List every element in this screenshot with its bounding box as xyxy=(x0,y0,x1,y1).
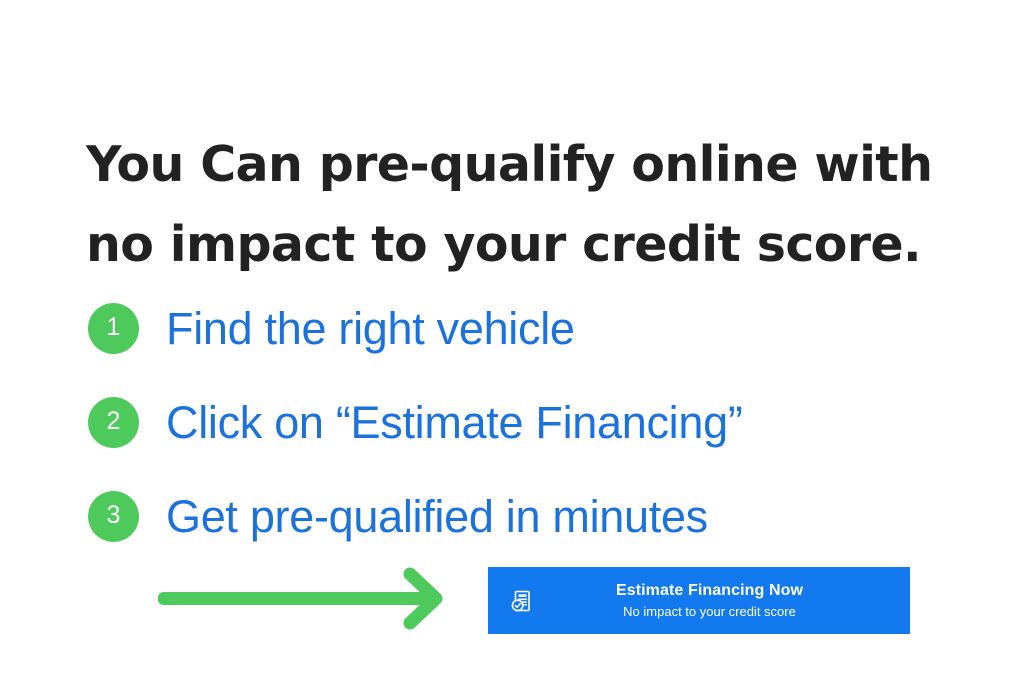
headline-line-2: no impact to your credit score. xyxy=(86,205,966,285)
step-number-badge-2: 2 xyxy=(88,397,139,448)
estimate-financing-button[interactable]: Estimate Financing Now No impact to your… xyxy=(488,567,910,634)
cta-text-block: Estimate Financing Now No impact to your… xyxy=(527,581,910,621)
arrow-right-icon xyxy=(158,566,450,630)
steps-list: 1 Find the right vehicle 2 Click on “Est… xyxy=(88,281,968,563)
step-number-badge-1: 1 xyxy=(88,303,139,354)
cta-subtitle: No impact to your credit score xyxy=(623,603,796,621)
cta-title: Estimate Financing Now xyxy=(616,581,803,601)
promo-banner: You Can pre-qualify online with no impac… xyxy=(0,0,1024,685)
headline-line-1: You Can pre-qualify online with xyxy=(86,125,966,205)
list-item: 3 Get pre-qualified in minutes xyxy=(88,469,968,563)
step-number-badge-3: 3 xyxy=(88,491,139,542)
step-label-2: Click on “Estimate Financing” xyxy=(166,397,743,448)
list-item: 1 Find the right vehicle xyxy=(88,281,968,375)
page-title: You Can pre-qualify online with no impac… xyxy=(86,125,966,285)
step-label-1: Find the right vehicle xyxy=(166,303,575,354)
list-item: 2 Click on “Estimate Financing” xyxy=(88,375,968,469)
step-label-3: Get pre-qualified in minutes xyxy=(166,491,708,542)
